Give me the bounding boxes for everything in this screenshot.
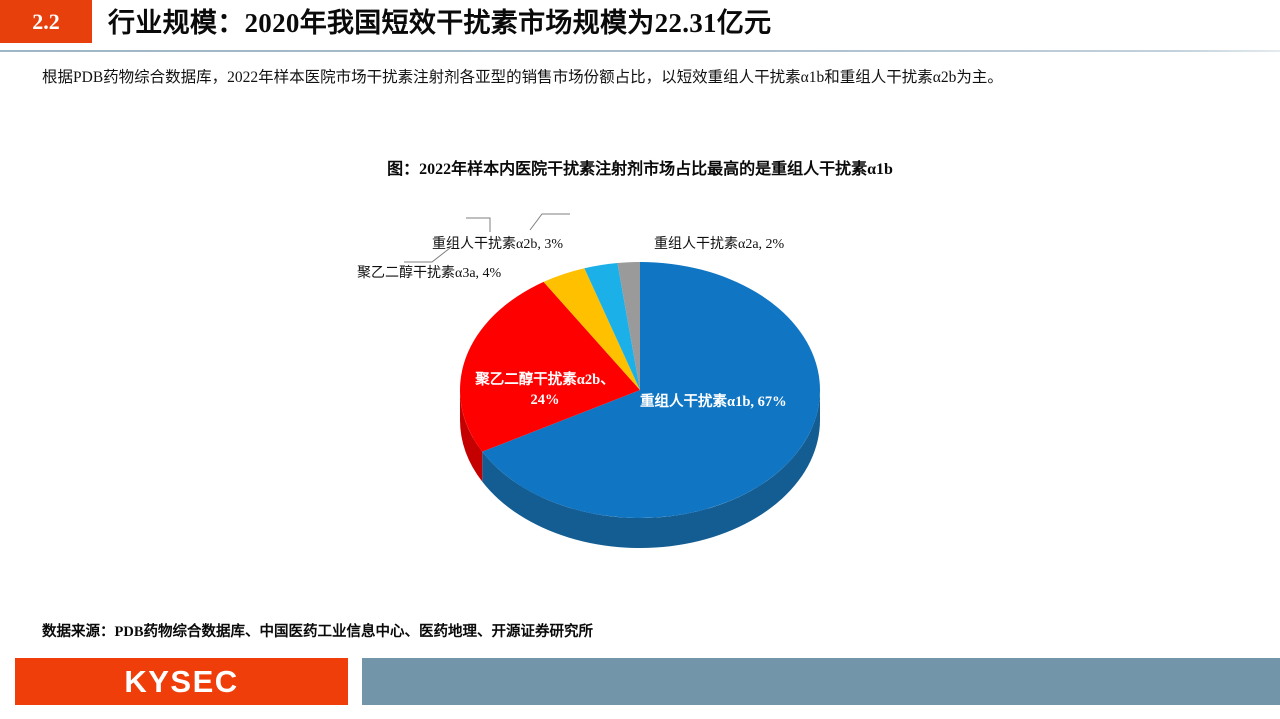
page-title: 行业规模：2020年我国短效干扰素市场规模为22.31亿元	[108, 2, 1268, 44]
pie-slice-label-peg-a2b-line1: 聚乙二醇干扰素α2b、	[475, 372, 614, 388]
source-note: 数据来源：PDB药物综合数据库、中国医药工业信息中心、医药地理、开源证券研究所	[42, 620, 593, 641]
footer-accent-bar	[362, 658, 1280, 705]
chart-caption: 图：2022年样本内医院干扰素注射剂市场占比最高的是重组人干扰素α1b	[0, 155, 1280, 179]
pie-chart-figure	[300, 200, 1000, 580]
callout-label-peg-a3a: 聚乙二醇干扰素α3a, 4%	[357, 262, 501, 282]
pie-slice-label-recombinant-a1b: 重组人干扰素α1b, 67%	[640, 392, 820, 412]
callout-label-recombinant-a2a: 重组人干扰素α2a, 2%	[654, 233, 784, 253]
pie-chart-svg	[300, 200, 1000, 580]
pie-slice-label-peg-a2b: 聚乙二醇干扰素α2b、 24%	[455, 370, 635, 410]
section-number-badge: 2.2	[0, 0, 92, 43]
leader-line-a2a	[530, 214, 570, 230]
header-divider-rule	[0, 50, 1280, 52]
footer-logo-bar: KYSEC	[15, 658, 348, 705]
intro-paragraph: 根据PDB药物综合数据库，2022年样本医院市场干扰素注射剂各亚型的销售市场份额…	[42, 66, 1238, 90]
slide-header: 2.2 行业规模：2020年我国短效干扰素市场规模为22.31亿元	[0, 0, 1280, 52]
leader-line-a2b	[466, 218, 490, 232]
kysec-logo-text: KYSEC	[15, 658, 348, 705]
pie-slice-label-peg-a2b-line2: 24%	[531, 392, 560, 408]
callout-label-recombinant-a2b: 重组人干扰素α2b, 3%	[432, 233, 563, 253]
